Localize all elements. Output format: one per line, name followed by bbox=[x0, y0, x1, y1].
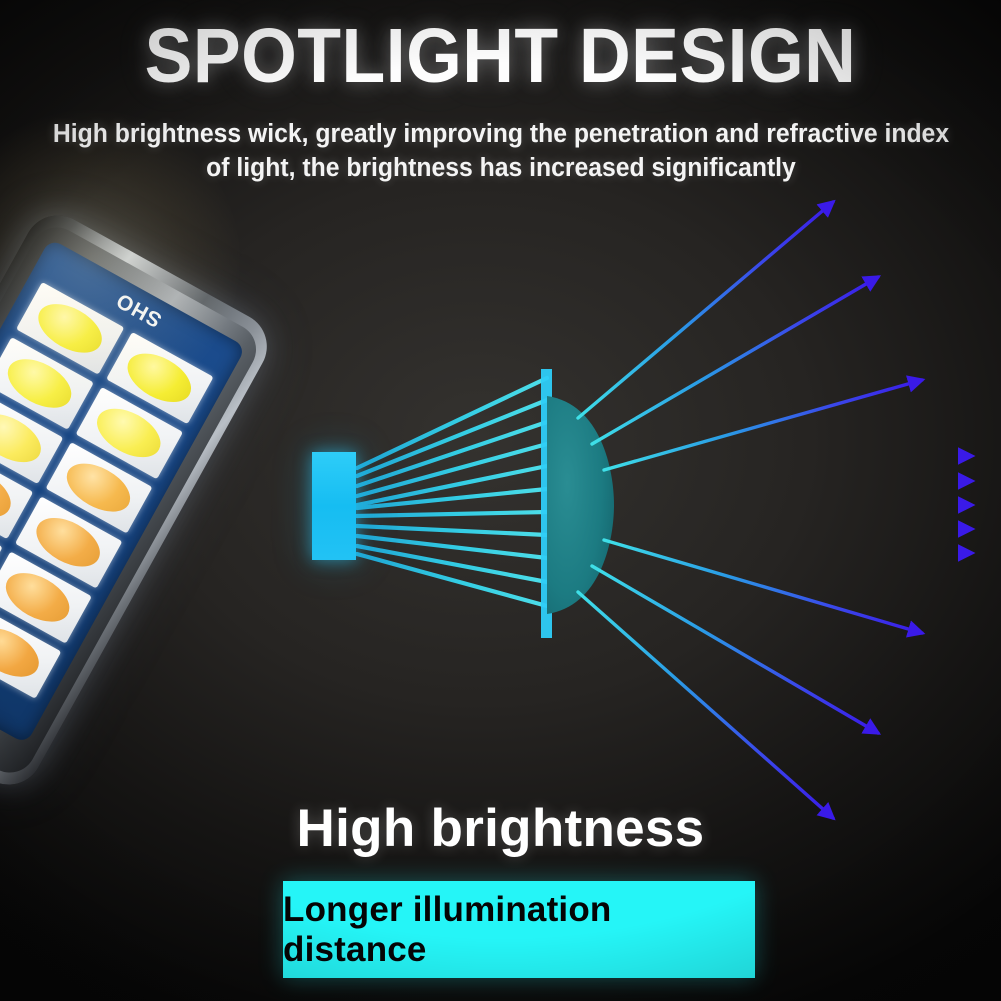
lens-body bbox=[547, 396, 614, 614]
led-light-source bbox=[312, 452, 356, 560]
led-dot bbox=[28, 509, 108, 577]
led-dot bbox=[0, 349, 79, 417]
lower-output-rays bbox=[578, 540, 922, 818]
page-subtitle: High brightness wick, greatly improving … bbox=[49, 118, 951, 185]
feature-banner-text: Longer illumination distance bbox=[283, 890, 755, 970]
feature-banner: Longer illumination distance bbox=[283, 881, 755, 978]
feature-headline: High brightness bbox=[0, 798, 1001, 859]
led-dot bbox=[0, 563, 78, 631]
page-title: SPOTLIGHT DESIGN bbox=[35, 18, 966, 95]
incoming-rays bbox=[357, 378, 547, 606]
product-marketing-image: SHO LED-CN3030 SPOTLIGHT DESIGN High bri… bbox=[0, 0, 1001, 1001]
led-dot bbox=[89, 399, 169, 467]
parallel-output-rays bbox=[609, 456, 972, 565]
upper-output-rays bbox=[578, 202, 922, 470]
led-dot bbox=[120, 344, 200, 412]
led-dot bbox=[30, 294, 110, 362]
lens-assembly bbox=[541, 369, 614, 638]
led-dot bbox=[59, 454, 139, 522]
